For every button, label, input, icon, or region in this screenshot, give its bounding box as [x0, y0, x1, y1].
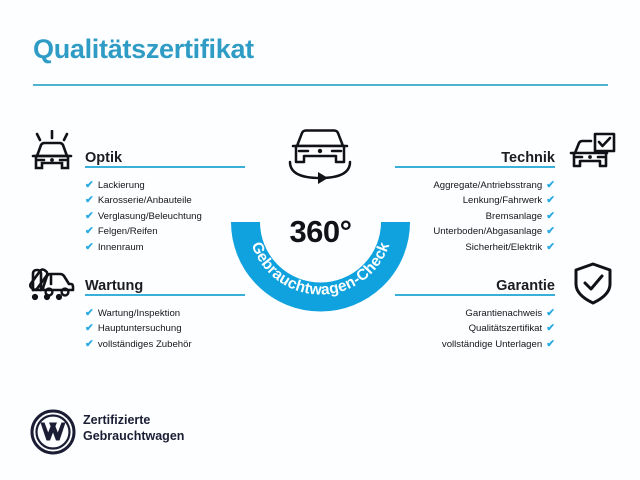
check-icon: ✔ [546, 194, 555, 206]
check-icon: ✔ [85, 322, 94, 334]
list-item-label: Verglasung/Beleuchtung [98, 211, 202, 222]
section-technik-title: Technik [501, 150, 555, 166]
check-icon: ✔ [546, 338, 555, 350]
check-icon: ✔ [546, 307, 555, 319]
section-technik-divider [395, 166, 555, 168]
section-optik-list: ✔Lackierung ✔Karosserie/Anbauteile ✔Verg… [85, 178, 245, 255]
list-item: ✔vollständiges Zubehör [85, 337, 245, 352]
badge-center-label: 360° [228, 214, 413, 250]
header-divider [33, 84, 608, 86]
list-item: ✔Wartung/Inspektion [85, 306, 245, 321]
section-wartung-list: ✔Wartung/Inspektion ✔Hauptuntersuchung ✔… [85, 306, 245, 352]
list-item: ✔Karosserie/Anbauteile [85, 193, 245, 208]
section-optik-header: Optik [85, 142, 245, 168]
list-item: Lenkung/Fahrwerk✔ [395, 193, 555, 208]
check-icon: ✔ [85, 179, 94, 191]
shield-check-icon [572, 261, 614, 312]
list-item: Unterboden/Abgasanlage✔ [395, 224, 555, 239]
check-icon: ✔ [85, 307, 94, 319]
check-icon: ✔ [546, 225, 555, 237]
list-item: Garantienachweis✔ [395, 306, 555, 321]
list-item: Aggregate/Antriebsstrang✔ [395, 178, 555, 193]
list-item-label: Sicherheit/Elektrik [465, 242, 542, 253]
car-wrench-icon [27, 262, 77, 309]
footer-text: Zertifizierte Gebrauchtwagen [83, 412, 184, 444]
section-garantie-title: Garantie [496, 278, 555, 294]
check-icon: ✔ [546, 322, 555, 334]
list-item-label: Qualitätszertifikat [469, 323, 543, 334]
list-item-label: Hauptuntersuchung [98, 323, 182, 334]
check-icon: ✔ [85, 241, 94, 253]
check-icon: ✔ [85, 338, 94, 350]
section-garantie-divider [395, 294, 555, 296]
section-technik-list: Aggregate/Antriebsstrang✔ Lenkung/Fahrwe… [395, 178, 555, 255]
list-item-label: Innenraum [98, 242, 144, 253]
list-item: Qualitätszertifikat✔ [395, 321, 555, 336]
footer-line-1: Zertifizierte [83, 412, 184, 428]
list-item: ✔Hauptuntersuchung [85, 321, 245, 336]
qualitaetszertifikat-page: Qualitätszertifikat [0, 0, 640, 480]
list-item-label: Karosserie/Anbauteile [98, 195, 192, 206]
section-garantie-list: Garantienachweis✔ Qualitätszertifikat✔ v… [395, 306, 555, 352]
vw-logo-icon [30, 409, 76, 460]
car-front-shine-icon [27, 130, 77, 181]
list-item: ✔Verglasung/Beleuchtung [85, 209, 245, 224]
list-item-label: Wartung/Inspektion [98, 308, 180, 319]
list-item: ✔Felgen/Reifen [85, 224, 245, 239]
list-item-label: Unterboden/Abgasanlage [433, 226, 542, 237]
check-icon: ✔ [546, 179, 555, 191]
list-item: Bremsanlage✔ [395, 209, 555, 224]
badge-360-gebrauchtwagen-check: Gebrauchtwagen-Check 360° [228, 118, 413, 313]
section-wartung-title: Wartung [85, 278, 143, 294]
check-icon: ✔ [546, 210, 555, 222]
check-icon: ✔ [85, 225, 94, 237]
section-garantie: Garantie Garantienachweis✔ Qualitätszert… [395, 270, 555, 352]
section-technik: Technik Aggregate/Antriebsstrang✔ Lenkun… [395, 142, 555, 255]
list-item-label: Garantienachweis [465, 308, 542, 319]
section-wartung-divider [85, 294, 245, 296]
list-item-label: Felgen/Reifen [98, 226, 158, 237]
car-checkbox-icon [567, 131, 617, 182]
section-wartung: Wartung ✔Wartung/Inspektion ✔Hauptunters… [85, 270, 245, 352]
list-item-label: vollständige Unterlagen [442, 339, 542, 350]
section-garantie-header: Garantie [395, 270, 555, 296]
section-optik: Optik ✔Lackierung ✔Karosserie/Anbauteile… [85, 142, 245, 255]
list-item-label: Aggregate/Antriebsstrang [433, 180, 542, 191]
list-item-label: Bremsanlage [486, 211, 543, 222]
list-item-label: vollständiges Zubehör [98, 339, 192, 350]
list-item: vollständige Unterlagen✔ [395, 337, 555, 352]
check-icon: ✔ [546, 241, 555, 253]
section-technik-header: Technik [395, 142, 555, 168]
check-icon: ✔ [85, 194, 94, 206]
page-title: Qualitätszertifikat [33, 34, 254, 65]
section-optik-divider [85, 166, 245, 168]
footer-line-2: Gebrauchtwagen [83, 428, 184, 444]
section-wartung-header: Wartung [85, 270, 245, 296]
list-item: Sicherheit/Elektrik✔ [395, 240, 555, 255]
list-item: ✔Innenraum [85, 240, 245, 255]
list-item: ✔Lackierung [85, 178, 245, 193]
section-optik-title: Optik [85, 150, 122, 166]
list-item-label: Lenkung/Fahrwerk [463, 195, 542, 206]
check-icon: ✔ [85, 210, 94, 222]
list-item-label: Lackierung [98, 180, 145, 191]
